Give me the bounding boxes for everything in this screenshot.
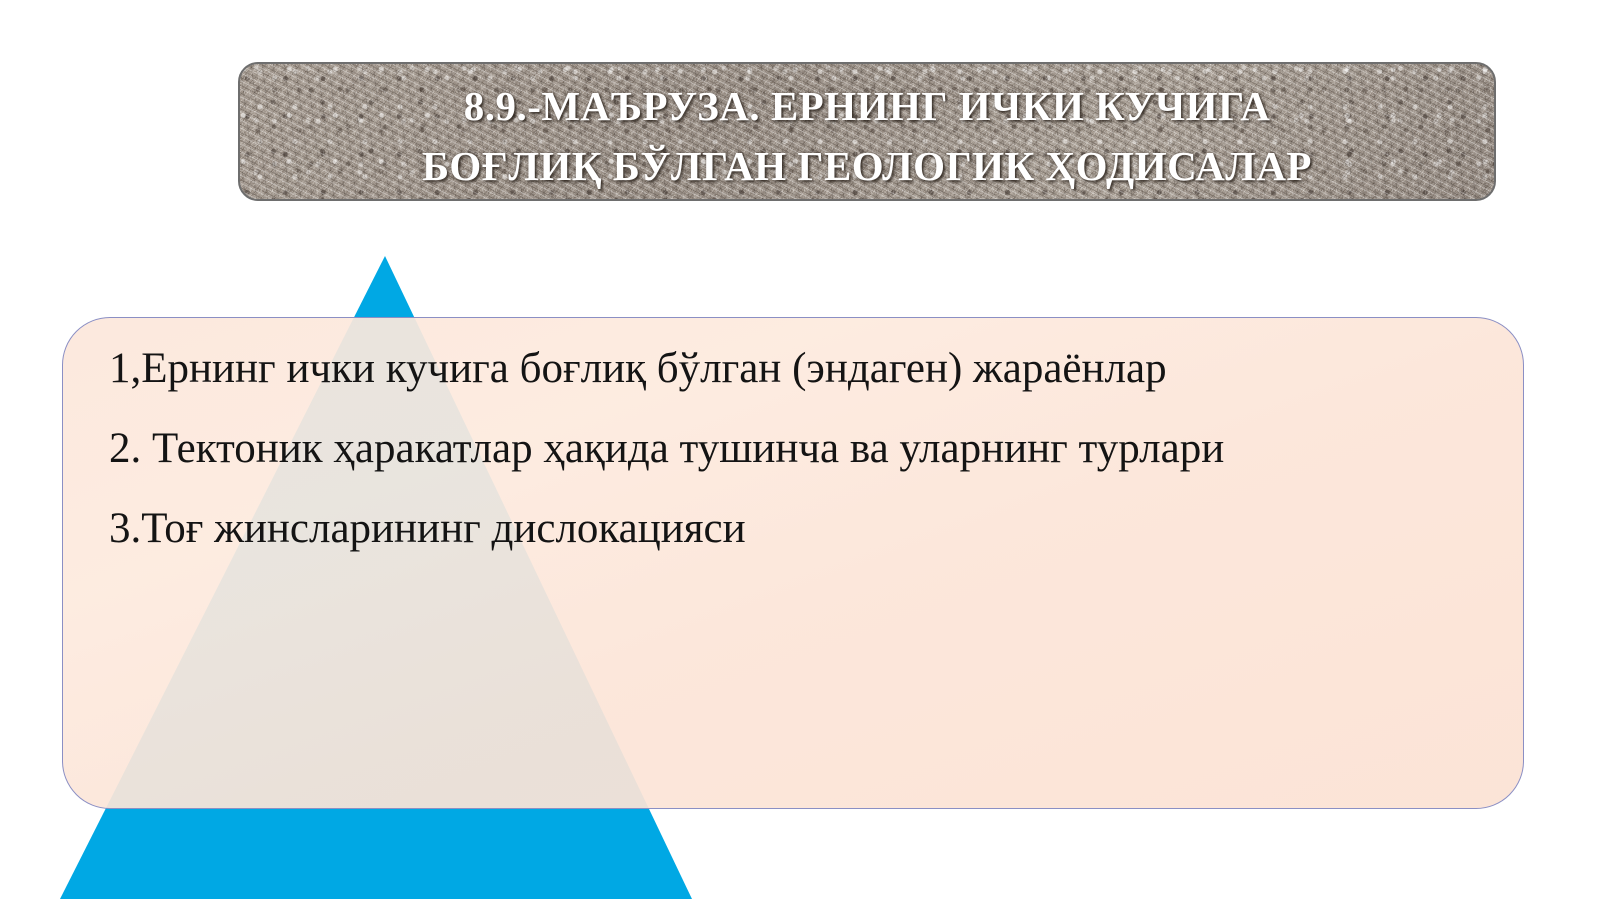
content-card: 1,Ернинг ички кучига боғлиқ бўлган (энда… [62,317,1524,809]
slide-title: 8.9.-МАЪРУЗА. ЕРНИНГ ИЧКИ КУЧИГА БОҒЛИҚ … [240,64,1494,196]
list-item: 2. Тектоник ҳаракатлар ҳақида тушинча ва… [109,420,1477,478]
list-item: 1,Ернинг ички кучига боғлиқ бўлган (энда… [109,340,1477,398]
slide-canvas: 8.9.-МАЪРУЗА. ЕРНИНГ ИЧКИ КУЧИГА БОҒЛИҚ … [0,0,1600,899]
list-item: 3.Тоғ жинсларининг дислокацияси [109,500,1477,558]
title-banner: 8.9.-МАЪРУЗА. ЕРНИНГ ИЧКИ КУЧИГА БОҒЛИҚ … [238,62,1496,201]
bullet-list: 1,Ернинг ички кучига боғлиқ бўлган (энда… [63,318,1523,558]
